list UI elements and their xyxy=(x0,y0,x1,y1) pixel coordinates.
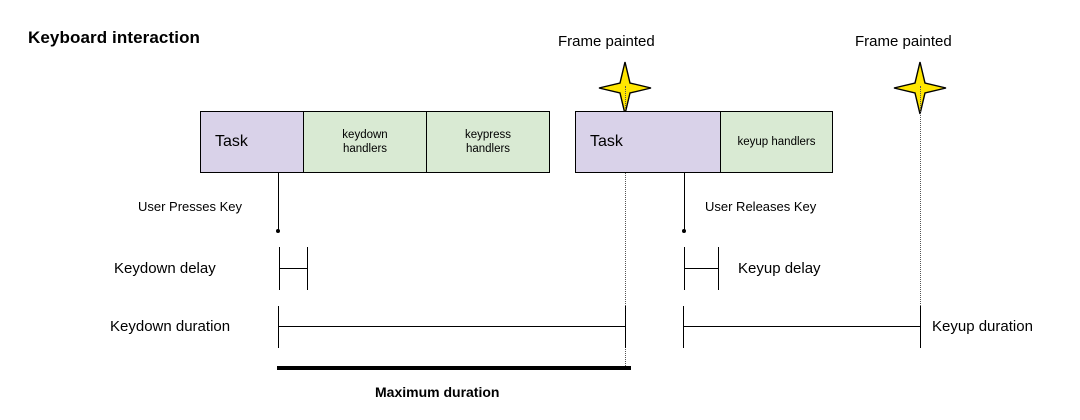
diagram-canvas: Keyboard interaction Frame painted Frame… xyxy=(0,0,1080,420)
lane-box-keyup-handlers-label: keyup handlers xyxy=(738,135,816,149)
keyup-duration-label: Keyup duration xyxy=(932,319,1033,334)
lane-box-keypress-handlers-line2: handlers xyxy=(466,142,510,156)
lane-box-keypress-handlers: keypress handlers xyxy=(426,111,550,173)
lane-box-keydown-handlers-line1: keydown xyxy=(342,128,387,142)
keydown-duration-label: Keydown duration xyxy=(110,319,230,334)
keyup-delay-label: Keyup delay xyxy=(738,261,821,276)
keyup-duration-end-tick xyxy=(920,306,921,348)
maximum-duration-label: Maximum duration xyxy=(375,385,499,399)
user-presses-key-label: User Presses Key xyxy=(138,200,242,213)
keyup-duration-start-tick xyxy=(683,306,684,348)
keydown-duration-end-tick xyxy=(625,306,626,348)
keydown-duration-span-line xyxy=(278,326,626,327)
maximum-duration-bar xyxy=(277,366,631,370)
lane-box-keypress-handlers-line1: keypress xyxy=(465,128,511,142)
frame-painted-label-1: Frame painted xyxy=(558,34,655,49)
keydown-delay-span-line xyxy=(279,268,308,269)
frame-guide-line-2 xyxy=(920,86,921,336)
user-releases-key-label: User Releases Key xyxy=(705,200,816,213)
lane-box-task-1-label: Task xyxy=(215,132,248,152)
user-releases-key-leader-line xyxy=(684,173,685,231)
lane-box-task-2: Task xyxy=(575,111,721,173)
frame-painted-label-2: Frame painted xyxy=(855,34,952,49)
lane-box-keydown-handlers-line2: handlers xyxy=(343,142,387,156)
user-presses-key-leader-line xyxy=(278,173,279,231)
keydown-duration-start-tick xyxy=(278,306,279,348)
user-releases-key-dot xyxy=(682,229,686,233)
keyup-delay-span-line xyxy=(684,268,719,269)
page-title: Keyboard interaction xyxy=(28,29,200,46)
lane-box-keyup-handlers: keyup handlers xyxy=(720,111,833,173)
keydown-delay-label: Keydown delay xyxy=(114,261,216,276)
user-presses-key-dot xyxy=(276,229,280,233)
lane-box-task-2-label: Task xyxy=(590,132,623,152)
lane-box-keydown-handlers: keydown handlers xyxy=(303,111,427,173)
keyup-duration-span-line xyxy=(683,326,921,327)
lane-box-task-1: Task xyxy=(200,111,304,173)
